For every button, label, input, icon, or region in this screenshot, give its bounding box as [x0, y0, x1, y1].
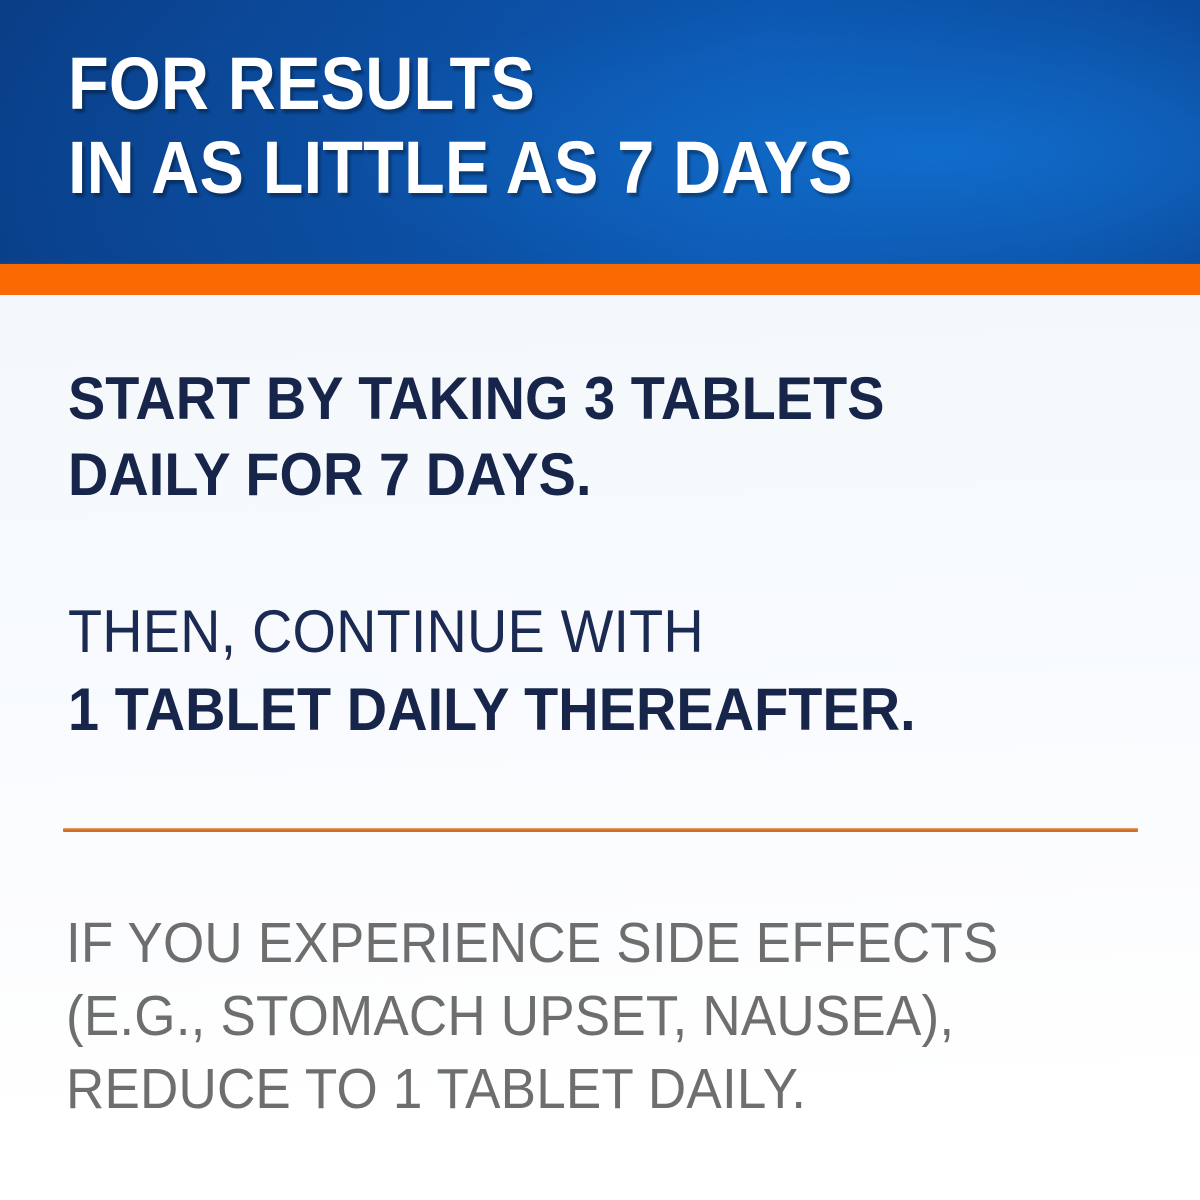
secondary-instruction-lead-text: THEN, CONTINUE WITH [68, 593, 1054, 671]
instructions-body: START BY TAKING 3 TABLETS DAILY FOR 7 DA… [0, 295, 1200, 1200]
secondary-instruction-emphasis-text: 1 TABLET DAILY THEREAFTER. [68, 671, 1054, 749]
product-instructions-panel: FOR RESULTS IN AS LITTLE AS 7 DAYS START… [0, 0, 1200, 1200]
side-effects-note-block: IF YOU EXPERIENCE SIDE EFFECTS (E.G., ST… [66, 907, 1156, 1126]
secondary-instruction-block: THEN, CONTINUE WITH 1 TABLET DAILY THERE… [68, 593, 1128, 749]
orange-accent-band [0, 264, 1200, 295]
side-effects-note-text: IF YOU EXPERIENCE SIDE EFFECTS (E.G., ST… [66, 907, 1080, 1126]
primary-instruction-text: START BY TAKING 3 TABLETS DAILY FOR 7 DA… [68, 361, 1054, 513]
primary-instruction-block: START BY TAKING 3 TABLETS DAILY FOR 7 DA… [68, 361, 1128, 513]
header-headline: FOR RESULTS IN AS LITTLE AS 7 DAYS [68, 42, 1040, 210]
header-banner: FOR RESULTS IN AS LITTLE AS 7 DAYS [0, 0, 1200, 264]
section-divider [63, 828, 1138, 832]
